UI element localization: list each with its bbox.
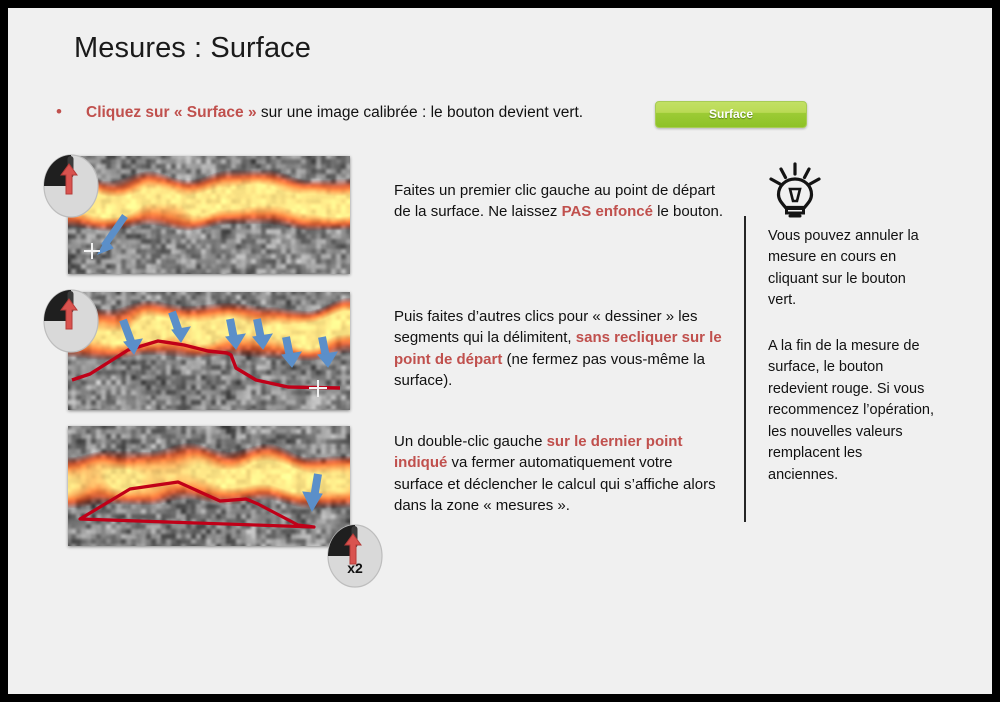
measure-polyline — [72, 341, 340, 388]
annotation-arrow — [98, 216, 125, 254]
surface-button-label: Surface — [656, 102, 806, 127]
step-1-text-after: le bouton. — [653, 203, 723, 220]
double-click-label: x2 — [320, 560, 390, 576]
page-title: Mesures : Surface — [74, 32, 311, 65]
step-1-text-accent: PAS enfoncé — [562, 203, 653, 220]
lightbulb-icon — [764, 160, 826, 222]
mouse-left-click-icon — [36, 150, 106, 220]
sidebar-note-1: Vous pouvez annuler la mesure en cours e… — [768, 226, 936, 312]
bullet-text: Cliquez sur « Surface » sur une image ca… — [86, 103, 583, 122]
bullet-highlight: Cliquez sur « Surface » — [86, 104, 257, 121]
ultrasound-image-2 — [68, 292, 350, 410]
crosshair-marker — [84, 243, 100, 259]
bullet-line: • Cliquez sur « Surface » sur une image … — [48, 103, 688, 122]
bullet-marker: • — [48, 103, 86, 120]
step-2-text: Puis faites d’autres clics pour « dessin… — [394, 306, 724, 391]
slide-canvas: Mesures : Surface • Cliquez sur « Surfac… — [8, 8, 992, 694]
step-1-text: Faites un premier clic gauche au point d… — [394, 180, 724, 223]
annotation-arrows — [123, 312, 337, 367]
ultrasound-image-1 — [68, 156, 350, 274]
surface-button[interactable]: Surface — [655, 101, 807, 128]
step-3-text-before: Un double-clic gauche — [394, 433, 547, 450]
ultrasound-image-3 — [68, 426, 350, 546]
bullet-rest: sur une image calibrée : le bouton devie… — [257, 104, 584, 121]
crosshair-marker — [309, 380, 327, 397]
sidebar-divider — [744, 216, 746, 522]
step-3-text: Un double-clic gauche sur le dernier poi… — [394, 431, 724, 516]
mouse-left-click-icon-2 — [36, 285, 106, 355]
mouse-double-click-icon: x2 — [320, 520, 390, 590]
measure-polygon — [80, 482, 314, 527]
annotation-arrow — [303, 474, 322, 511]
sidebar-note-2: A la fin de la mesure de surface, le bou… — [768, 336, 936, 486]
